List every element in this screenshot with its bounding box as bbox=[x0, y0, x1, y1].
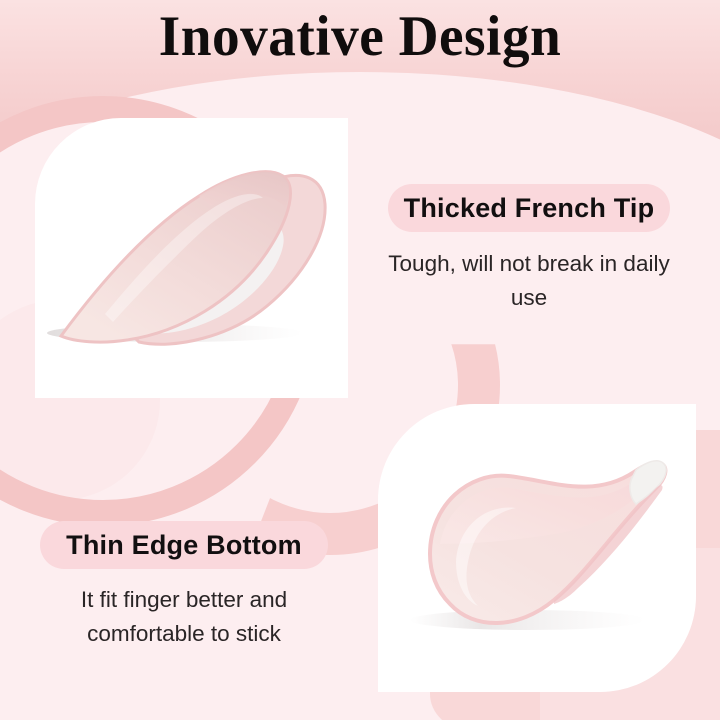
description-thin-edge-bottom: It fit finger better and comfortable to … bbox=[28, 583, 340, 651]
badge-label: Thicked French Tip bbox=[404, 193, 655, 224]
nail-thick-tip-icon bbox=[35, 118, 348, 398]
badge-label: Thin Edge Bottom bbox=[66, 530, 302, 561]
badge-thin-edge-bottom: Thin Edge Bottom bbox=[40, 521, 328, 569]
product-image-thin-edge bbox=[378, 404, 696, 692]
nail-thin-edge-icon bbox=[378, 404, 696, 692]
badge-thicked-french-tip: Thicked French Tip bbox=[388, 184, 670, 232]
description-thicked-french-tip: Tough, will not break in daily use bbox=[379, 247, 679, 315]
page-title: Inovative Design bbox=[11, 6, 709, 68]
infographic-canvas: Inovative Design bbox=[0, 0, 720, 720]
product-image-french-tip bbox=[35, 118, 348, 398]
